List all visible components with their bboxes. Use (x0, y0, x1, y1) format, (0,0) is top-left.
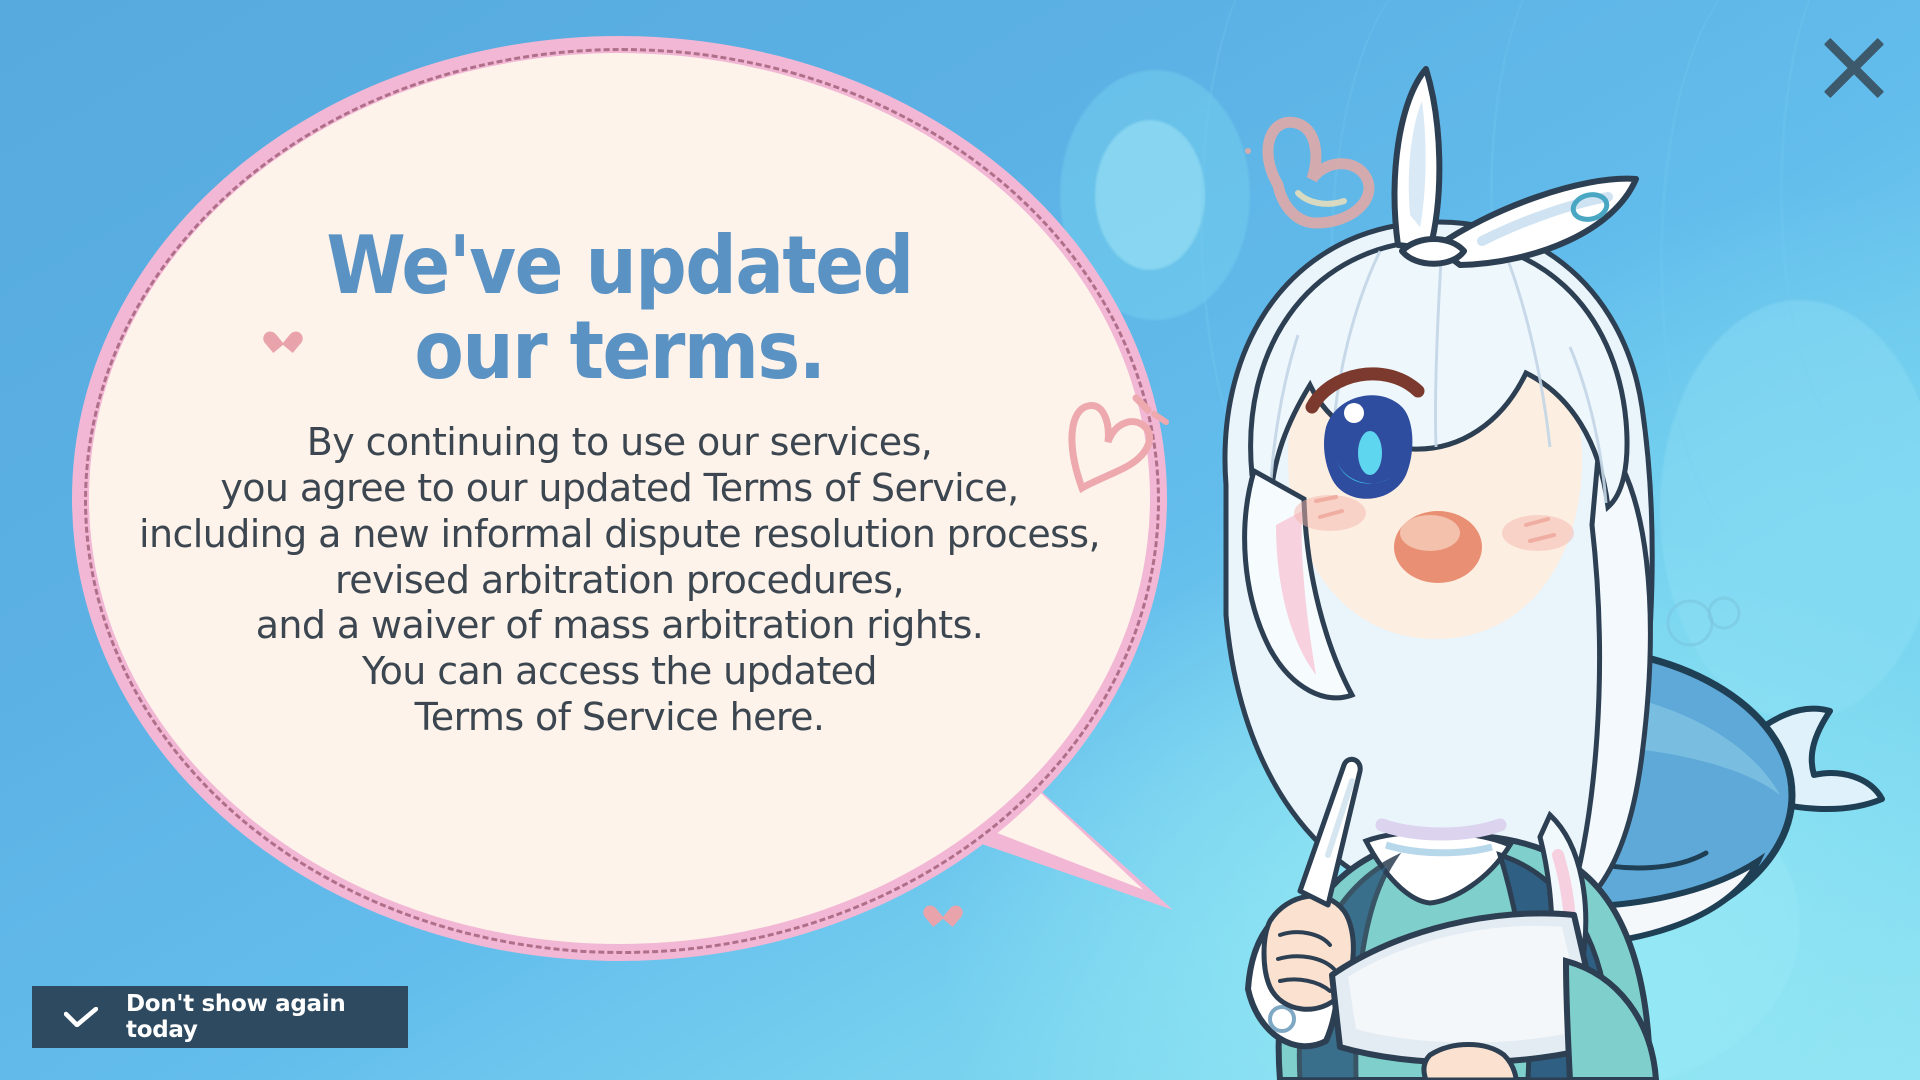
mini-heart-icon (270, 324, 296, 348)
terms-body-text: By continuing to use our services, you a… (139, 420, 1100, 742)
dont-show-again-label: Don't show again today (126, 991, 408, 1043)
heart-doodle-icon (1245, 122, 1400, 223)
girl-character (1225, 69, 1656, 1080)
check-icon (64, 1007, 98, 1027)
terms-notice-bubble: We've updated our terms. By continuing t… (72, 36, 1172, 966)
bubble-content: We've updated our terms. By continuing t… (72, 36, 1167, 961)
dont-show-again-button[interactable]: Don't show again today (32, 986, 408, 1048)
bunny-ear-ribbon (1394, 69, 1636, 265)
page-title: We've updated our terms. (326, 224, 912, 394)
anime-mascot-illustration (1130, 55, 1920, 1080)
mini-heart-icon (930, 898, 956, 922)
